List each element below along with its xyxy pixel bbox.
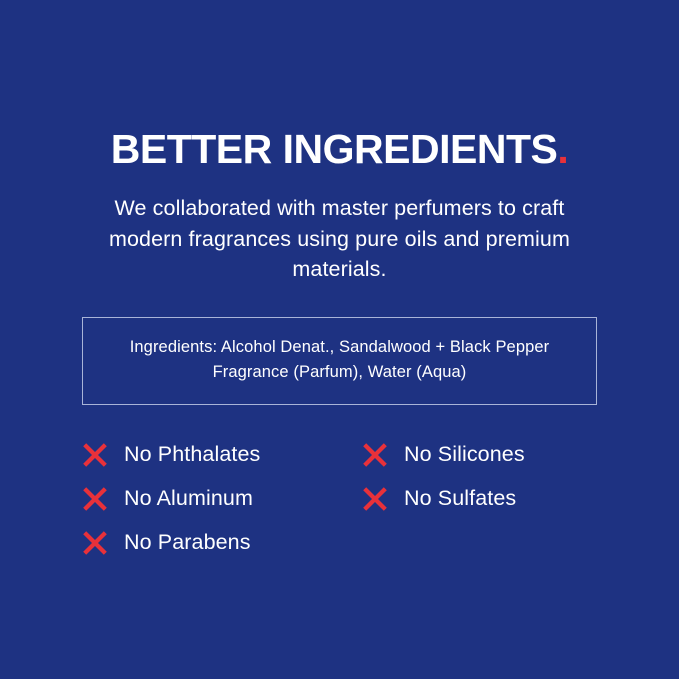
claims-column-right: No Silicones No Sulfates bbox=[362, 433, 597, 565]
subheading-text: We collaborated with master perfumers to… bbox=[100, 193, 580, 285]
red-x-icon bbox=[82, 442, 108, 468]
claim-label: No Sulfates bbox=[404, 488, 516, 510]
list-item: No Aluminum bbox=[82, 477, 362, 521]
page-title: BETTER INGREDIENTS. bbox=[111, 128, 569, 171]
red-x-icon bbox=[82, 530, 108, 556]
list-item: No Parabens bbox=[82, 521, 362, 565]
list-item: No Sulfates bbox=[362, 477, 597, 521]
claims-section: No Phthalates No Aluminum No Parabens bbox=[82, 433, 597, 565]
list-item: No Phthalates bbox=[82, 433, 362, 477]
page-title-text: BETTER INGREDIENTS bbox=[111, 126, 558, 172]
claim-label: No Silicones bbox=[404, 444, 525, 466]
ingredients-box: Ingredients: Alcohol Denat., Sandalwood … bbox=[82, 317, 597, 405]
claim-label: No Aluminum bbox=[124, 488, 253, 510]
claims-column-left: No Phthalates No Aluminum No Parabens bbox=[82, 433, 362, 565]
claim-label: No Phthalates bbox=[124, 444, 260, 466]
ingredients-list-text: Ingredients: Alcohol Denat., Sandalwood … bbox=[105, 335, 574, 386]
claim-label: No Parabens bbox=[124, 532, 251, 554]
red-x-icon bbox=[82, 486, 108, 512]
product-claims-card: BETTER INGREDIENTS. We collaborated with… bbox=[0, 0, 679, 679]
page-title-accent-period: . bbox=[557, 126, 568, 172]
red-x-icon bbox=[362, 442, 388, 468]
red-x-icon bbox=[362, 486, 388, 512]
list-item: No Silicones bbox=[362, 433, 597, 477]
